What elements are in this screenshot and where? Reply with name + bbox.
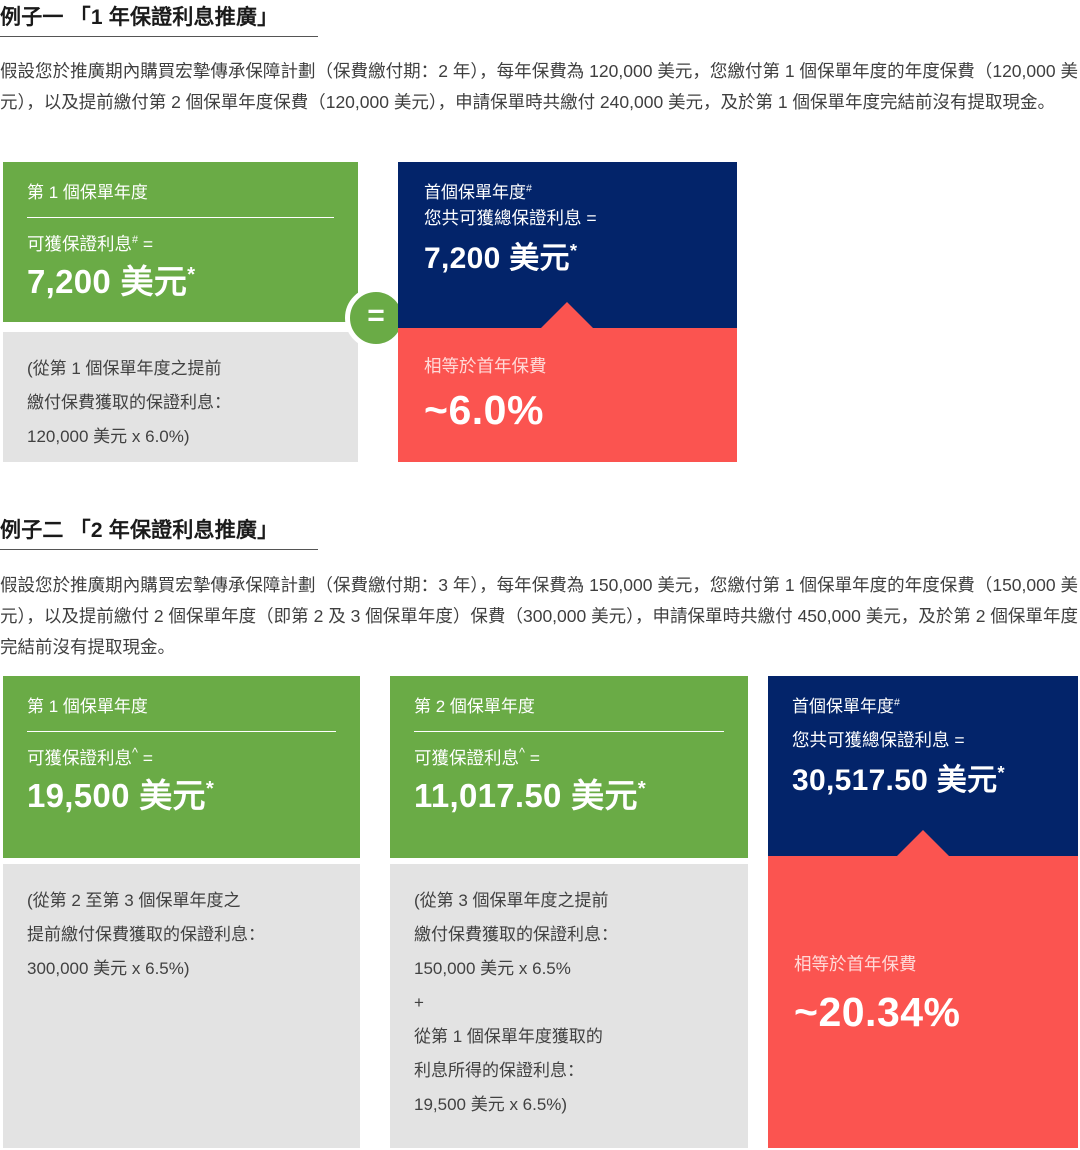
example-2-grey-card-1-line-2: 提前繳付保費獲取的保證利息： [27,918,336,952]
example-1-navy-card-title-row: 首個保單年度# [424,182,711,204]
example-2-heading: 例子二 「2 年保證利息推廣」 [0,519,318,550]
example-2-grey-card-1-line-3: 300,000 美元 x 6.5%) [27,952,336,986]
example-1-navy-card-title-marker: # [526,182,532,194]
promotion-examples-page: 例子一 「1 年保證利息推廣」 假設您於推廣期內購買宏摯傳承保障計劃（保費繳付期… [0,0,1080,1150]
example-1-grey-card-line-2: 繳付保費獲取的保證利息： [27,386,334,420]
example-2-green-card-1-title: 第 1 個保單年度 [27,696,336,718]
example-2-grey-card-2: (從第 3 個保單年度之提前 繳付保費獲取的保證利息： 150,000 美元 x… [390,864,748,1148]
example-2-grey-card-2-line-1: (從第 3 個保單年度之提前 [414,884,724,918]
example-2-green-card-1-divider [27,731,336,732]
example-2-green-card-1-amount: 19,500 美元 [27,777,206,814]
example-2-grey-card-2-line-3: 150,000 美元 x 6.5% [414,952,724,986]
example-1-heading: 例子一 「1 年保證利息推廣」 [0,6,318,37]
example-1-green-card-sub-marker: # [132,234,138,246]
example-2-green-card-1-sub-marker: ^ [132,746,138,760]
example-1-green-card-amount-marker: * [187,263,195,286]
example-2-green-card-2-amount-marker: * [638,777,646,800]
example-1-green-card-divider [27,217,334,218]
example-1-grey-card-line-3: 120,000 美元 x 6.0%) [27,420,334,454]
example-2-green-card-1-amount-marker: * [206,777,214,800]
example-1-navy-card-amount-row: 7,200 美元* [424,238,711,280]
example-2-green-card-2: 第 2 個保單年度 可獲保證利息^ = 11,017.50 美元* [390,676,748,858]
example-1-navy-card-title: 首個保單年度 [424,183,526,202]
example-2-navy-card-title: 首個保單年度 [792,697,894,716]
example-2-navy-card-amount: 30,517.50 美元 [792,764,997,797]
example-1-green-card-sub-label: 可獲保證利息 [27,234,132,254]
example-1-intro-paragraph: 假設您於推廣期內購買宏摯傳承保障計劃（保費繳付期：2 年），每年保費為 120,… [0,56,1078,118]
example-2-grey-card-2-line-7: 19,500 美元 x 6.5%) [414,1088,724,1122]
example-2-green-card-1-sub-label: 可獲保證利息 [27,748,132,768]
example-2-green-card-1: 第 1 個保單年度 可獲保證利息^ = 19,500 美元* [3,676,360,858]
example-2-green-card-2-sub-marker: ^ [519,746,525,760]
example-1-red-card-notch-triangle [541,302,593,328]
example-2-grey-card-1: (從第 2 至第 3 個保單年度之 提前繳付保費獲取的保證利息： 300,000… [3,864,360,1148]
example-1-equals-badge-label: = [367,301,385,331]
example-2-red-card-label: 相等於首年保費 [794,952,1052,976]
example-2-green-card-2-amount: 11,017.50 美元 [414,777,638,814]
example-2-grey-card-1-line-1: (從第 2 至第 3 個保單年度之 [27,884,336,918]
example-1-green-card-title: 第 1 個保單年度 [27,182,334,204]
example-2-green-card-2-title: 第 2 個保單年度 [414,696,724,718]
example-2-green-card-1-subtitle: 可獲保證利息^ = [27,746,336,770]
example-1-navy-card-subtitle: 您共可獲總保證利息 = [424,206,711,230]
example-2-intro-paragraph: 假設您於推廣期內購買宏摯傳承保障計劃（保費繳付期：3 年），每年保費為 150,… [0,570,1078,663]
example-1-green-card-sub-equals: = [143,234,153,254]
example-1-grey-card-line-1: (從第 1 個保單年度之提前 [27,352,334,386]
example-2-navy-card: 首個保單年度# 您共可獲總保證利息 = 30,517.50 美元* [768,676,1078,856]
example-2-red-card: 相等於首年保費 ~20.34% [768,856,1078,1148]
example-2-navy-card-subtitle: 您共可獲總保證利息 = [792,728,1054,752]
example-2-green-card-2-amount-row: 11,017.50 美元* [414,774,724,818]
example-1-grey-card: (從第 1 個保單年度之提前 繳付保費獲取的保證利息： 120,000 美元 x… [3,332,358,462]
example-1-red-card-label: 相等於首年保費 [424,354,711,378]
example-1-navy-card-amount: 7,200 美元 [424,242,570,275]
example-2-green-card-2-sub-label: 可獲保證利息 [414,748,519,768]
example-2-green-card-2-sub-equals: = [530,748,540,768]
example-2-green-card-2-subtitle: 可獲保證利息^ = [414,746,724,770]
example-2-navy-card-amount-row: 30,517.50 美元* [792,760,1054,802]
example-2-navy-card-amount-marker: * [997,762,1005,783]
example-2-grey-card-2-line-6: 利息所得的保證利息： [414,1054,724,1088]
example-1-green-card-subtitle: 可獲保證利息# = [27,232,334,256]
example-2-grey-card-2-line-2: 繳付保費獲取的保證利息： [414,918,724,952]
example-1-red-card: 相等於首年保費 ~6.0% [398,328,737,462]
example-2-grey-card-2-line-4: + [414,986,724,1020]
example-2-green-card-2-divider [414,731,724,732]
example-2-grey-card-2-line-5: 從第 1 個保單年度獲取的 [414,1020,724,1054]
example-2-red-card-value: ~20.34% [794,986,1052,1038]
example-2-navy-card-title-marker: # [894,696,900,708]
example-2-red-card-notch-triangle [897,830,949,856]
example-1-green-card: 第 1 個保單年度 可獲保證利息# = 7,200 美元* [3,162,358,322]
example-2-green-card-1-sub-equals: = [143,748,153,768]
example-2-green-card-1-amount-row: 19,500 美元* [27,774,336,818]
example-1-navy-card-amount-marker: * [570,240,578,261]
example-1-green-card-amount-row: 7,200 美元* [27,260,334,304]
example-1-green-card-amount: 7,200 美元 [27,263,187,300]
example-1-red-card-value: ~6.0% [424,384,711,436]
example-2-navy-card-title-row: 首個保單年度# [792,696,1054,718]
